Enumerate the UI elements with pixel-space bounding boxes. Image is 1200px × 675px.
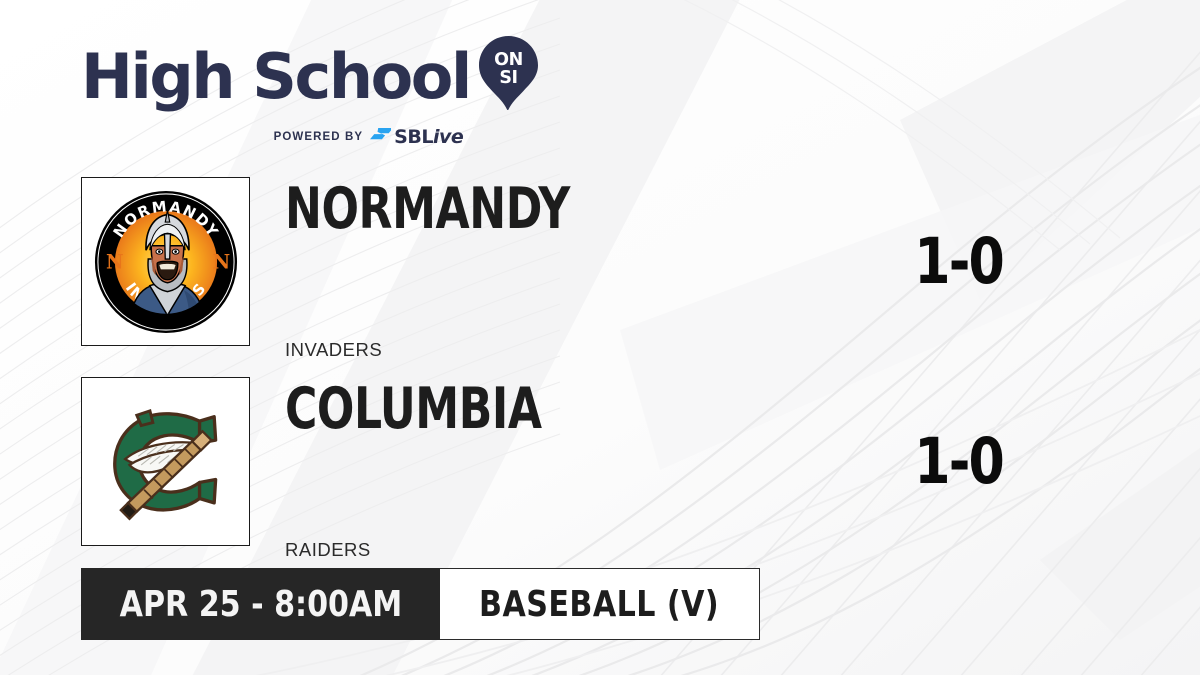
logo-side-letter-right: N <box>212 250 230 273</box>
team-info-normandy: NORMANDY INVADERS <box>285 177 805 236</box>
page-title: High School <box>81 47 470 107</box>
game-sport-text: BASEBALL (V) <box>479 584 719 625</box>
team-record: 1-0 <box>779 177 1003 346</box>
team-info-columbia: COLUMBIA RAIDERS <box>285 377 805 436</box>
team-record: 1-0 <box>779 377 1003 546</box>
game-info-bar: APR 25 - 8:00AM BASEBALL (V) <box>81 568 760 640</box>
team-logo-box-normandy: NORMANDY INVADERS N N <box>81 177 250 346</box>
brand-header: High School ON SI POWERED BY SBLive <box>81 38 538 148</box>
game-datetime-text: APR 25 - 8:00AM <box>119 584 402 625</box>
game-sport-badge: BASEBALL (V) <box>440 568 760 640</box>
pin-line-2: SI <box>499 68 517 88</box>
pin-line-1: ON <box>494 50 523 70</box>
sblive-logo: SBLive <box>370 126 463 148</box>
team-logo-box-columbia <box>81 377 250 546</box>
normandy-invaders-logo-icon: NORMANDY INVADERS N N <box>92 188 240 336</box>
on-si-pin-icon: ON SI <box>479 36 538 115</box>
game-datetime-badge: APR 25 - 8:00AM <box>81 568 440 640</box>
team-name: NORMANDY <box>285 182 732 236</box>
team-mascot: INVADERS <box>285 339 382 361</box>
logo-side-letter-left: N <box>106 250 124 273</box>
sblive-wordmark: SBLive <box>394 126 463 148</box>
scoreboard-graphic: High School ON SI POWERED BY SBLive <box>0 0 1200 675</box>
powered-by-label: POWERED BY <box>274 131 364 143</box>
team-mascot: RAIDERS <box>285 539 371 561</box>
sblive-bolt-icon <box>370 128 391 147</box>
team-name: COLUMBIA <box>285 382 732 436</box>
columbia-raiders-logo-icon <box>93 389 239 535</box>
